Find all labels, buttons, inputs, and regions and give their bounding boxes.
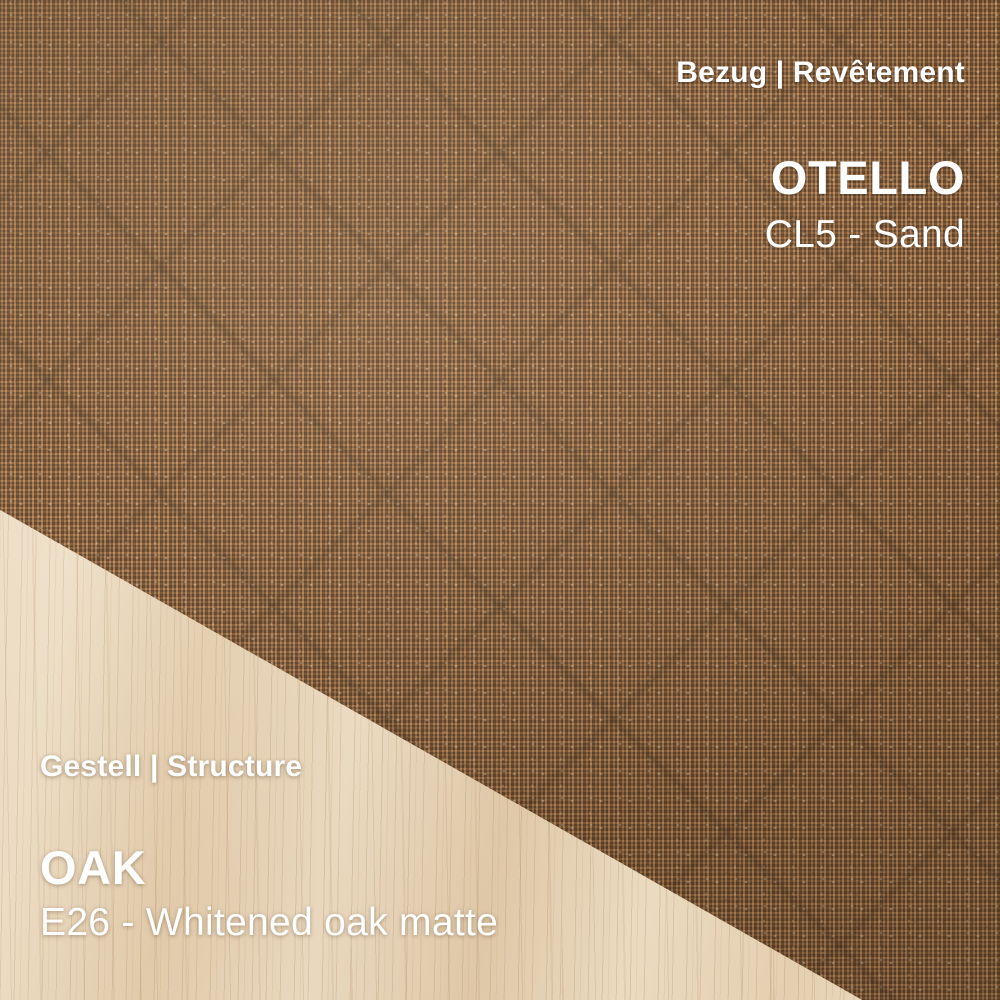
- wood-title: OAK: [40, 844, 498, 891]
- fabric-caption-block: Bezug | Revêtement OTELLO CL5 - Sand: [676, 58, 965, 254]
- wood-category-label: Gestell | Structure: [40, 752, 498, 782]
- wood-caption-block: Gestell | Structure OAK E26 - Whitened o…: [40, 752, 498, 942]
- wood-code-and-finish: E26 - Whitened oak matte: [40, 903, 498, 942]
- material-swatch-card: Bezug | Revêtement OTELLO CL5 - Sand Ges…: [0, 0, 1000, 1000]
- fabric-code-and-color: CL5 - Sand: [676, 215, 965, 254]
- fabric-category-label: Bezug | Revêtement: [676, 58, 965, 88]
- fabric-title: OTELLO: [676, 154, 965, 201]
